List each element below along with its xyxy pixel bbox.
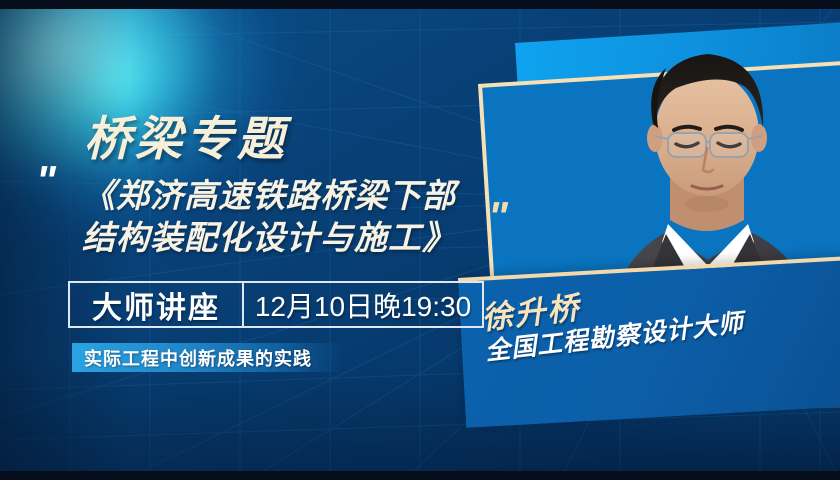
page-title: 桥梁专题 xyxy=(84,100,288,169)
lecture-subtitle: 《郑济高速铁路桥梁下部 结构装配化设计与施工》 xyxy=(82,175,502,259)
lecture-poster: 徐升桥 全国工程勘察设计大师 桥梁专题 " " 《郑济高速铁路桥梁下部 结构装配… xyxy=(0,0,840,480)
lecture-subtitle-line1: 《郑济高速铁路桥梁下部 xyxy=(82,175,502,217)
tagline-text: 实际工程中创新成果的实践 xyxy=(84,345,312,371)
lecture-datetime: 12月10日晚19:30 xyxy=(244,283,482,326)
letterbox-top-bar xyxy=(0,0,840,9)
lecture-subtitle-line2: 结构装配化设计与施工》 xyxy=(82,217,502,259)
lecture-series-label: 大师讲座 xyxy=(70,283,242,326)
open-quote-mark: " xyxy=(36,168,54,193)
tagline-banner: 实际工程中创新成果的实践 xyxy=(72,343,342,372)
letterbox-bottom-bar xyxy=(0,471,840,480)
speaker-nameplate: 徐升桥 全国工程勘察设计大师 xyxy=(458,256,840,428)
lecture-info-box: 大师讲座 12月10日晚19:30 xyxy=(68,281,484,328)
